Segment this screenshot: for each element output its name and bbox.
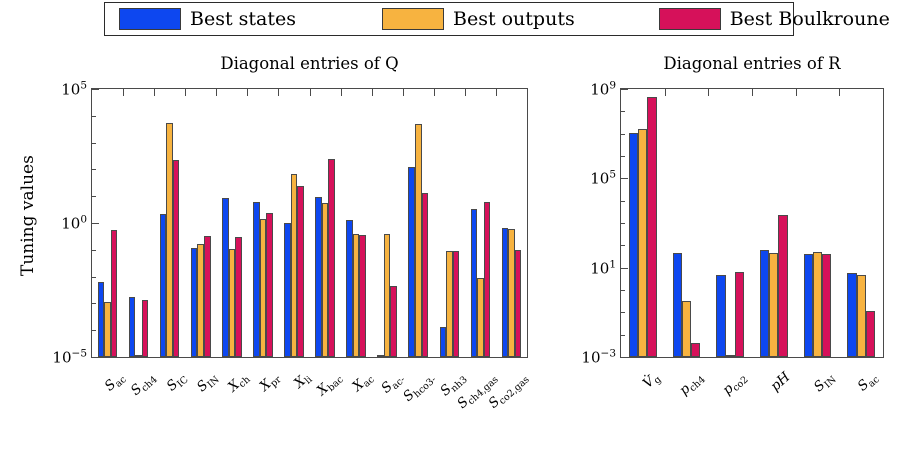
bar-diagonal-entries-q-9-1 bbox=[384, 234, 391, 357]
bar-diagonal-entries-q-13-2 bbox=[515, 250, 522, 357]
bar-diagonal-entries-r-1-1 bbox=[682, 301, 691, 357]
x-tick-mark bbox=[465, 89, 466, 96]
legend-label: Best outputs bbox=[444, 10, 575, 29]
x-tick-mark bbox=[708, 89, 709, 96]
bar-diagonal-entries-r-0-1 bbox=[638, 129, 647, 357]
bar-diagonal-entries-r-1-0 bbox=[673, 253, 682, 357]
x-tick-mark bbox=[665, 89, 666, 96]
bar-diagonal-entries-r-4-0 bbox=[804, 254, 813, 357]
bar-diagonal-entries-r-0-2 bbox=[647, 97, 656, 357]
legend-item-1[interactable]: Best outputs bbox=[382, 3, 575, 35]
y-tick-mark bbox=[621, 156, 625, 157]
legend-swatch-icon bbox=[382, 8, 444, 30]
legend-item-2[interactable]: Best Boulkroune bbox=[659, 3, 890, 35]
bar-diagonal-entries-q-11-1 bbox=[446, 251, 453, 357]
y-axis-label: Tuning values bbox=[18, 155, 38, 276]
bar-diagonal-entries-q-5-2 bbox=[266, 213, 273, 357]
bar-diagonal-entries-r-3-1 bbox=[769, 253, 778, 357]
bar-diagonal-entries-q-7-0 bbox=[315, 197, 322, 357]
x-tick-mark bbox=[839, 89, 840, 96]
bar-diagonal-entries-r-3-0 bbox=[760, 250, 769, 357]
y-tick-label: 109 bbox=[590, 80, 616, 99]
y-tick-mark bbox=[621, 335, 625, 336]
bar-diagonal-entries-q-0-2 bbox=[111, 230, 118, 357]
y-tick-mark bbox=[621, 290, 625, 291]
chart-title-q: Diagonal entries of Q bbox=[91, 54, 528, 73]
y-tick-label: 10−3 bbox=[581, 348, 616, 367]
x-tick-mark bbox=[341, 89, 342, 96]
x-tick-mark bbox=[372, 89, 373, 96]
y-tick-label: 105 bbox=[590, 169, 616, 188]
bar-diagonal-entries-q-0-1 bbox=[104, 302, 111, 357]
bar-diagonal-entries-q-7-1 bbox=[322, 203, 329, 357]
y-tick-mark bbox=[621, 111, 625, 112]
bar-diagonal-entries-r-4-2 bbox=[822, 254, 831, 357]
y-tick-mark bbox=[621, 134, 625, 135]
y-tick-label: 10−5 bbox=[52, 348, 87, 367]
y-tick-mark bbox=[92, 196, 96, 197]
bar-diagonal-entries-q-5-0 bbox=[253, 202, 260, 357]
figure-root: Best statesBest outputsBest Boulkroune D… bbox=[0, 0, 897, 438]
chart-title-r: Diagonal entries of R bbox=[620, 54, 884, 73]
bar-diagonal-entries-q-12-2 bbox=[484, 202, 491, 357]
legend-swatch-icon bbox=[119, 8, 181, 30]
y-tick-mark bbox=[621, 312, 625, 313]
bar-diagonal-entries-q-4-2 bbox=[235, 237, 242, 357]
legend-label: Best Boulkroune bbox=[721, 10, 890, 29]
x-tick-mark bbox=[310, 89, 311, 96]
y-tick-label: 105 bbox=[61, 80, 87, 99]
x-tick-mark bbox=[247, 89, 248, 96]
x-tick-mark bbox=[752, 89, 753, 96]
x-tick-mark bbox=[434, 89, 435, 96]
bar-diagonal-entries-q-8-0 bbox=[346, 220, 353, 357]
bar-diagonal-entries-q-9-2 bbox=[390, 286, 397, 357]
y-tick-mark bbox=[92, 357, 99, 358]
bar-diagonal-entries-q-6-1 bbox=[291, 174, 298, 357]
bar-diagonal-entries-q-3-0 bbox=[191, 248, 198, 357]
y-tick-mark bbox=[621, 357, 628, 358]
bar-diagonal-entries-r-2-2 bbox=[735, 272, 744, 357]
y-tick-label: 100 bbox=[61, 214, 87, 233]
y-tick-mark bbox=[92, 277, 96, 278]
y-tick-mark bbox=[621, 201, 625, 202]
y-tick-mark bbox=[92, 89, 99, 90]
y-tick-mark bbox=[621, 89, 628, 90]
bar-diagonal-entries-q-12-0 bbox=[471, 209, 478, 357]
y-tick-mark bbox=[92, 143, 96, 144]
legend-swatch-icon bbox=[659, 8, 721, 30]
legend-label: Best states bbox=[181, 10, 296, 29]
panel-diagonal-entries-r: Diagonal entries of R 10−3101105109V̇gpc… bbox=[540, 40, 897, 438]
legend-item-0[interactable]: Best states bbox=[119, 3, 296, 35]
bar-diagonal-entries-q-13-1 bbox=[508, 229, 515, 357]
plot-area-q: 10−5100105SacSch4SICSINXchXprXliXbacXacS… bbox=[91, 88, 528, 358]
bar-diagonal-entries-r-0-0 bbox=[629, 133, 638, 357]
bar-diagonal-entries-r-5-0 bbox=[847, 273, 856, 357]
x-tick-mark bbox=[185, 89, 186, 96]
bar-diagonal-entries-q-1-2 bbox=[142, 300, 149, 357]
legend: Best statesBest outputsBest Boulkroune bbox=[104, 2, 794, 36]
bar-diagonal-entries-r-2-0 bbox=[716, 275, 725, 357]
bar-diagonal-entries-q-1-0 bbox=[129, 297, 136, 357]
bar-diagonal-entries-q-4-1 bbox=[229, 249, 236, 357]
bar-diagonal-entries-q-8-2 bbox=[359, 235, 366, 357]
y-tick-mark bbox=[621, 268, 628, 269]
bar-diagonal-entries-r-2-1 bbox=[726, 355, 735, 358]
plot-area-r: 10−3101105109V̇gpch4pco2pHSINSac bbox=[620, 88, 884, 358]
bar-diagonal-entries-q-3-2 bbox=[204, 236, 211, 357]
panel-diagonal-entries-q: Diagonal entries of Q Tuning values 10−5… bbox=[0, 40, 540, 438]
bar-diagonal-entries-q-10-2 bbox=[422, 193, 429, 357]
x-tick-mark bbox=[278, 89, 279, 96]
y-tick-mark bbox=[621, 223, 625, 224]
y-tick-mark bbox=[92, 169, 96, 170]
bar-diagonal-entries-q-0-0 bbox=[98, 282, 105, 357]
y-tick-mark bbox=[621, 178, 628, 179]
y-tick-mark bbox=[92, 330, 96, 331]
y-tick-mark bbox=[621, 245, 625, 246]
y-tick-mark bbox=[92, 116, 96, 117]
bar-diagonal-entries-q-2-2 bbox=[173, 160, 180, 357]
bar-diagonal-entries-q-6-2 bbox=[297, 186, 304, 357]
x-tick-mark bbox=[796, 89, 797, 96]
bar-diagonal-entries-r-3-2 bbox=[778, 215, 787, 357]
bar-diagonal-entries-q-2-1 bbox=[166, 123, 173, 357]
bar-diagonal-entries-r-4-1 bbox=[813, 252, 822, 357]
x-tick-mark bbox=[216, 89, 217, 96]
bar-diagonal-entries-r-5-1 bbox=[857, 275, 866, 357]
y-tick-mark bbox=[92, 250, 96, 251]
bar-diagonal-entries-r-5-2 bbox=[866, 311, 875, 357]
bar-diagonal-entries-r-1-2 bbox=[691, 343, 700, 357]
y-tick-mark bbox=[92, 303, 96, 304]
bar-diagonal-entries-q-11-2 bbox=[453, 251, 460, 357]
x-tick-mark bbox=[403, 89, 404, 96]
x-tick-mark bbox=[123, 89, 124, 96]
y-tick-label: 101 bbox=[590, 258, 616, 277]
x-tick-mark bbox=[154, 89, 155, 96]
bar-diagonal-entries-q-10-0 bbox=[408, 167, 415, 357]
y-tick-mark bbox=[92, 223, 99, 224]
bar-diagonal-entries-q-7-2 bbox=[328, 159, 335, 357]
x-tick-mark bbox=[496, 89, 497, 96]
